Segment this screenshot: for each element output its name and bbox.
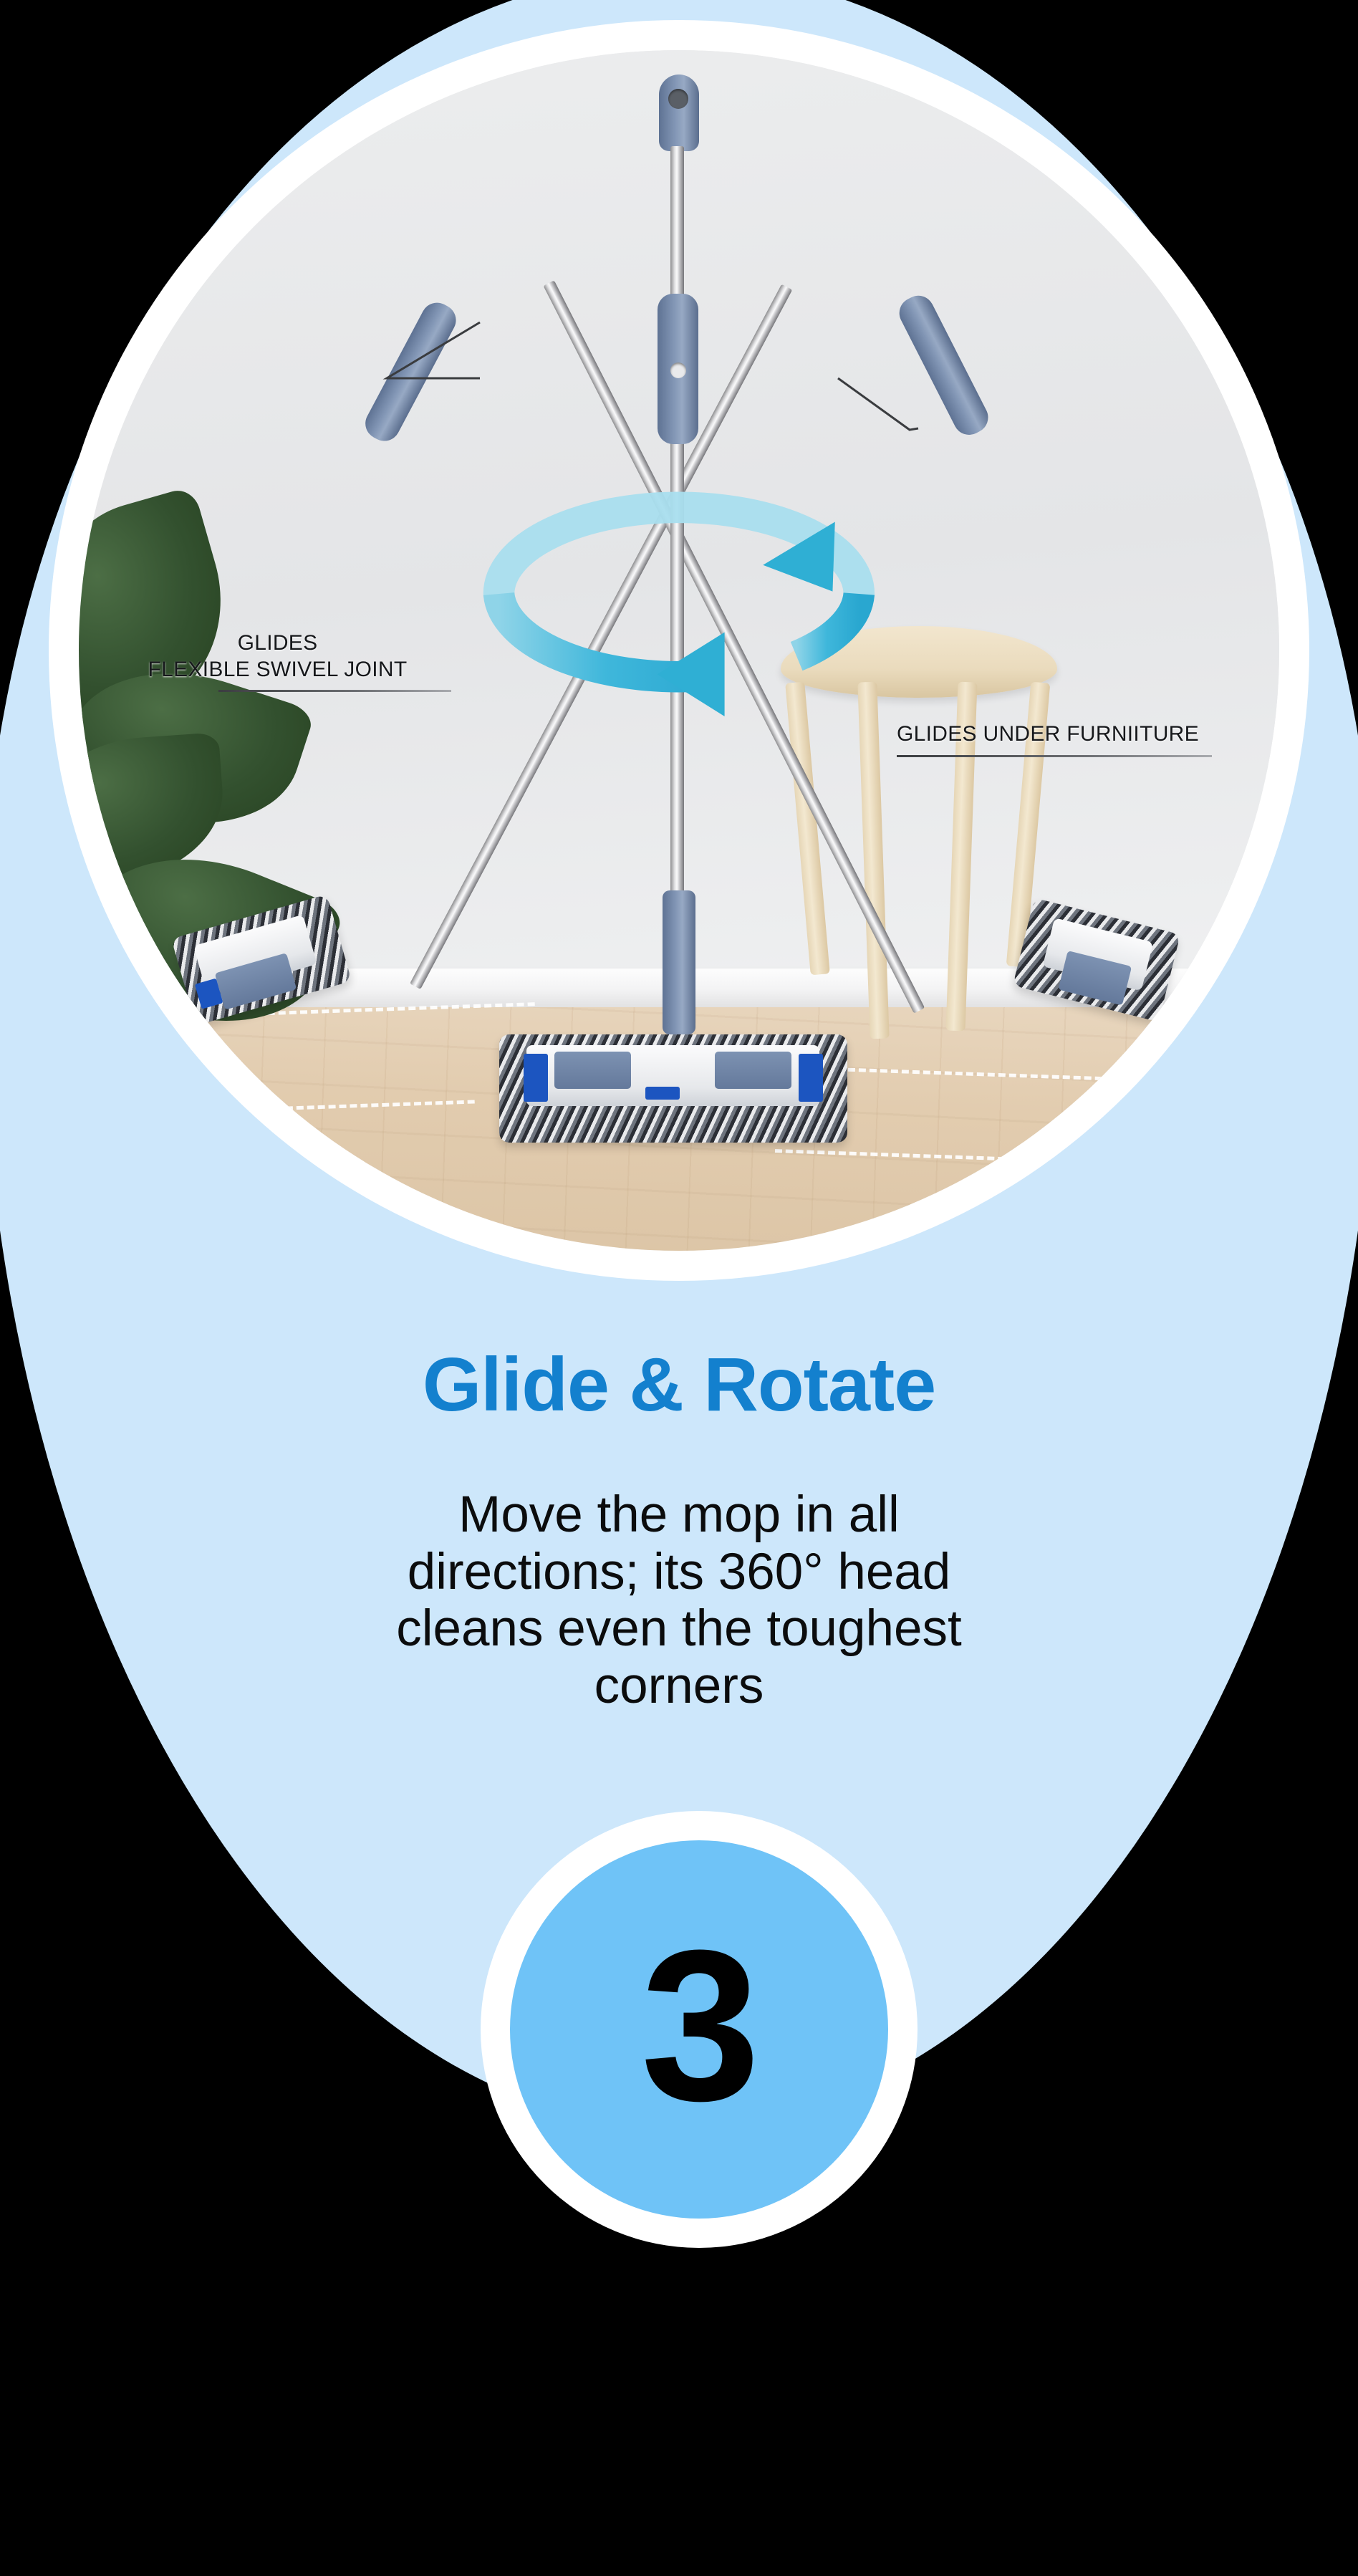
body-copy: Move the mop in all directions; its 360°… — [321, 1486, 1037, 1714]
callout-right-rule — [897, 755, 1212, 757]
body-copy-line: directions; its 360° head — [321, 1544, 1037, 1601]
callout-right-line1: GLIDES UNDER FURNIITURE — [897, 721, 1212, 748]
callout-left-line2: FLEXIBLE SWIVEL JOINT — [104, 657, 451, 683]
callout-glides-under-furniture: GLIDES UNDER FURNIITURE — [897, 721, 1212, 757]
body-copy-line: corners — [321, 1658, 1037, 1715]
headline: Glide & Rotate — [0, 1347, 1358, 1423]
callout-left-rule — [218, 690, 451, 692]
step-badge: 3 — [510, 1840, 888, 2219]
infographic-card: GLIDES FLEXIBLE SWIVEL JOINT GLIDES UNDE… — [0, 0, 1358, 2576]
body-copy-line: Move the mop in all — [321, 1486, 1037, 1544]
callout-left-line1: GLIDES — [104, 630, 451, 657]
callout-flexible-swivel-joint: GLIDES FLEXIBLE SWIVEL JOINT — [104, 630, 451, 692]
body-copy-line: cleans even the toughest — [321, 1600, 1037, 1658]
step-number: 3 — [641, 1918, 758, 2133]
